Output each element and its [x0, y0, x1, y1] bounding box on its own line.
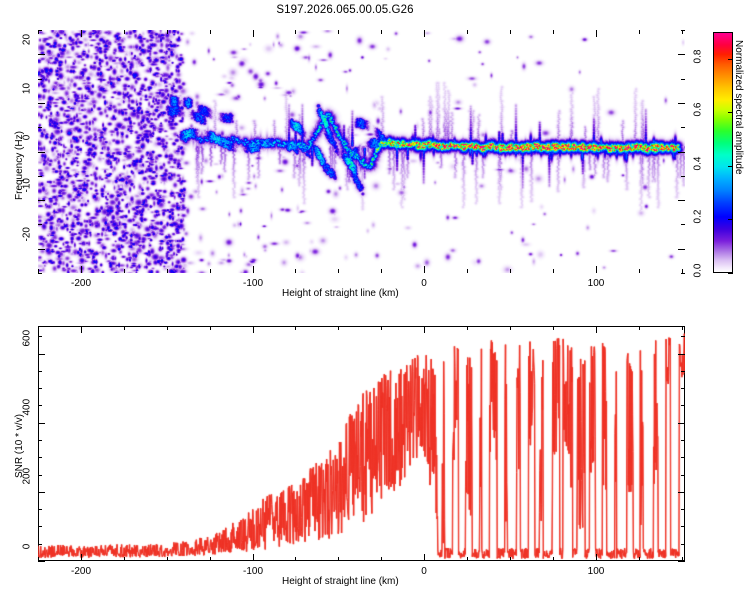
tick-label: 0: [421, 278, 427, 289]
snr-x-axis-label: Height of straight line (km): [282, 576, 399, 587]
tick-mark: [681, 336, 685, 337]
figure-root: S197.2026.065.00.05.G26 20100-10-20-200-…: [0, 0, 750, 600]
tick-mark: [210, 269, 211, 273]
tick-label: 100: [588, 566, 605, 577]
tick-mark: [253, 30, 254, 37]
tick-mark: [596, 30, 597, 37]
tick-label: 0: [22, 540, 33, 554]
tick-mark: [424, 266, 425, 273]
spectrogram-x-axis-label: Height of straight line (km): [282, 288, 399, 299]
tick-mark: [681, 475, 685, 476]
tick-label: -20: [22, 228, 33, 242]
tick-mark: [338, 326, 339, 330]
spectrogram-plot-area: [38, 30, 685, 273]
tick-mark: [38, 457, 42, 458]
tick-mark: [210, 557, 211, 561]
tick-mark: [381, 269, 382, 273]
tick-mark: [38, 54, 45, 55]
tick-mark: [38, 30, 39, 34]
tick-mark: [81, 554, 82, 561]
spectrogram-y-axis-label: Frequency (Hz): [14, 131, 25, 200]
tick-label: 0.4: [693, 153, 704, 175]
tick-mark: [38, 176, 42, 177]
snr-canvas: [38, 326, 685, 561]
tick-mark: [682, 269, 683, 273]
tick-mark: [681, 457, 685, 458]
tick-mark: [639, 269, 640, 273]
tick-mark: [38, 224, 42, 225]
tick-mark: [678, 54, 685, 55]
tick-mark: [681, 509, 685, 510]
tick-label: 0.0: [693, 260, 704, 282]
tick-mark: [467, 326, 468, 330]
tick-mark: [381, 30, 382, 34]
tick-mark: [681, 176, 685, 177]
tick-mark: [553, 557, 554, 561]
tick-mark: [338, 30, 339, 34]
tick-mark: [167, 269, 168, 273]
tick-mark: [81, 266, 82, 273]
tick-mark: [639, 30, 640, 34]
tick-mark: [210, 326, 211, 330]
tick-mark: [681, 371, 685, 372]
tick-mark: [681, 224, 685, 225]
tick-mark: [253, 266, 254, 273]
tick-mark: [678, 561, 685, 562]
tick-mark: [38, 557, 39, 561]
tick-mark: [38, 544, 42, 545]
tick-mark: [38, 152, 45, 153]
tick-mark: [553, 269, 554, 273]
tick-mark: [38, 526, 42, 527]
tick-mark: [38, 440, 42, 441]
colorbar: [713, 32, 733, 273]
tick-mark: [728, 273, 733, 274]
tick-mark: [510, 30, 511, 34]
tick-mark: [681, 127, 685, 128]
tick-mark: [295, 269, 296, 273]
tick-mark: [167, 557, 168, 561]
tick-mark: [596, 326, 597, 333]
tick-mark: [253, 326, 254, 333]
tick-mark: [124, 30, 125, 34]
tick-label: 100: [588, 278, 605, 289]
tick-mark: [124, 326, 125, 330]
tick-mark: [681, 526, 685, 527]
tick-label: -100: [243, 566, 263, 577]
tick-mark: [381, 557, 382, 561]
tick-mark: [38, 326, 39, 330]
colorbar-label: Normalized spectral amplitude: [733, 40, 744, 175]
tick-mark: [38, 249, 45, 250]
tick-mark: [510, 557, 511, 561]
tick-mark: [682, 557, 683, 561]
tick-mark: [682, 30, 683, 34]
tick-mark: [38, 388, 42, 389]
tick-mark: [295, 557, 296, 561]
tick-mark: [678, 354, 685, 355]
snr-y-axis-label: SNR (10 * v/v): [14, 414, 25, 478]
spectrogram-canvas: [38, 30, 685, 273]
tick-mark: [124, 557, 125, 561]
tick-mark: [38, 200, 45, 201]
tick-mark: [38, 336, 42, 337]
tick-mark: [167, 326, 168, 330]
tick-mark: [467, 557, 468, 561]
tick-label: 600: [22, 333, 33, 347]
tick-mark: [639, 557, 640, 561]
tick-mark: [38, 509, 42, 510]
tick-mark: [681, 440, 685, 441]
tick-mark: [424, 326, 425, 333]
tick-mark: [38, 354, 45, 355]
tick-mark: [210, 30, 211, 34]
tick-mark: [338, 557, 339, 561]
tick-mark: [678, 200, 685, 201]
tick-mark: [253, 554, 254, 561]
tick-label: 0.6: [693, 99, 704, 121]
tick-label: 0: [421, 566, 427, 577]
tick-mark: [467, 30, 468, 34]
tick-mark: [553, 30, 554, 34]
tick-mark: [467, 269, 468, 273]
tick-mark: [81, 326, 82, 333]
tick-mark: [510, 326, 511, 330]
tick-label: 20: [22, 33, 33, 47]
tick-mark: [678, 492, 685, 493]
tick-mark: [81, 30, 82, 37]
tick-mark: [678, 152, 685, 153]
tick-mark: [38, 103, 45, 104]
tick-label: -100: [243, 278, 263, 289]
tick-mark: [681, 79, 685, 80]
tick-mark: [424, 554, 425, 561]
tick-mark: [295, 326, 296, 330]
tick-mark: [510, 269, 511, 273]
tick-mark: [381, 326, 382, 330]
tick-mark: [639, 326, 640, 330]
tick-mark: [38, 269, 39, 273]
tick-mark: [38, 127, 42, 128]
tick-mark: [596, 266, 597, 273]
tick-mark: [38, 475, 42, 476]
tick-mark: [38, 492, 45, 493]
tick-mark: [553, 326, 554, 330]
tick-mark: [596, 554, 597, 561]
tick-mark: [678, 249, 685, 250]
tick-label: 10: [22, 82, 33, 96]
tick-mark: [38, 79, 42, 80]
tick-label: 0.8: [693, 46, 704, 68]
tick-mark: [338, 269, 339, 273]
tick-mark: [728, 219, 733, 220]
tick-mark: [681, 405, 685, 406]
tick-mark: [678, 423, 685, 424]
tick-mark: [38, 561, 45, 562]
tick-label: -200: [71, 566, 91, 577]
tick-mark: [682, 326, 683, 330]
tick-mark: [424, 30, 425, 37]
tick-label: 0.2: [693, 206, 704, 228]
tick-mark: [681, 273, 685, 274]
tick-mark: [38, 371, 42, 372]
tick-mark: [681, 544, 685, 545]
tick-mark: [38, 405, 42, 406]
tick-mark: [38, 273, 42, 274]
snr-plot-area: [38, 326, 685, 561]
tick-mark: [681, 388, 685, 389]
tick-mark: [295, 30, 296, 34]
tick-mark: [167, 30, 168, 34]
tick-mark: [678, 103, 685, 104]
tick-mark: [124, 269, 125, 273]
page-title: S197.2026.065.00.05.G26: [0, 4, 690, 16]
tick-mark: [38, 423, 45, 424]
tick-label: -200: [71, 278, 91, 289]
